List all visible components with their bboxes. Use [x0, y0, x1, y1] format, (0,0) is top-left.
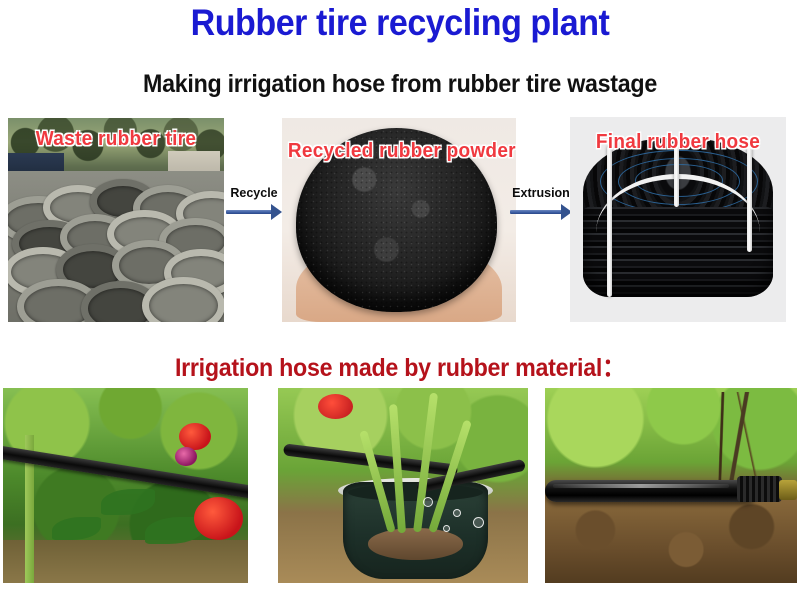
hose-with-connector-on-soil-photo: [545, 388, 797, 583]
slide-canvas: Rubber tire recycling plant Making irrig…: [0, 0, 800, 600]
page-subtitle: Making irrigation hose from rubber tire …: [28, 70, 772, 99]
pot-soil: [368, 528, 463, 559]
recycle-arrow-label: Recycle: [226, 186, 282, 200]
flower: [175, 447, 197, 467]
water-droplet: [453, 509, 461, 517]
waste-tire-pile-photo: Waste rubber tire: [8, 118, 224, 322]
photo-caption: Final rubber hose: [575, 131, 780, 154]
hose-watering-potted-plant-photo: [278, 388, 528, 583]
arrow-head-icon: [271, 204, 282, 220]
extrusion-arrow: Extrusion: [510, 186, 572, 230]
soil-ground: [3, 540, 248, 583]
hose-highlight: [553, 484, 729, 488]
rubber-powder-photo: Recycled rubber powder: [282, 118, 516, 322]
hose-coil-photo: Final rubber hose: [570, 117, 786, 322]
binding-strap: [747, 146, 752, 253]
flower: [194, 497, 243, 540]
pot-inner-rim: [348, 484, 483, 502]
arrow-shaft: [510, 210, 564, 214]
hose-connector: [737, 476, 782, 502]
binding-strap: [607, 146, 612, 298]
page-title: Rubber tire recycling plant: [32, 2, 768, 44]
hose-connector-end: [779, 480, 797, 500]
water-droplet: [473, 517, 484, 528]
photo-caption: Waste rubber tire: [13, 128, 218, 151]
section-title: Irrigation hose made by rubber material：: [28, 348, 772, 384]
water-droplet: [443, 525, 450, 532]
tire: [142, 277, 224, 322]
hose-in-flowerbed-photo: [3, 388, 248, 583]
extrusion-arrow-label: Extrusion: [510, 186, 572, 200]
arrow-shaft: [226, 210, 274, 214]
flower: [318, 394, 353, 419]
recycle-arrow: Recycle: [226, 186, 282, 230]
irrigation-hose: [545, 480, 757, 502]
soil-ground: [545, 495, 797, 583]
photo-caption: Recycled rubber powder: [288, 140, 510, 163]
